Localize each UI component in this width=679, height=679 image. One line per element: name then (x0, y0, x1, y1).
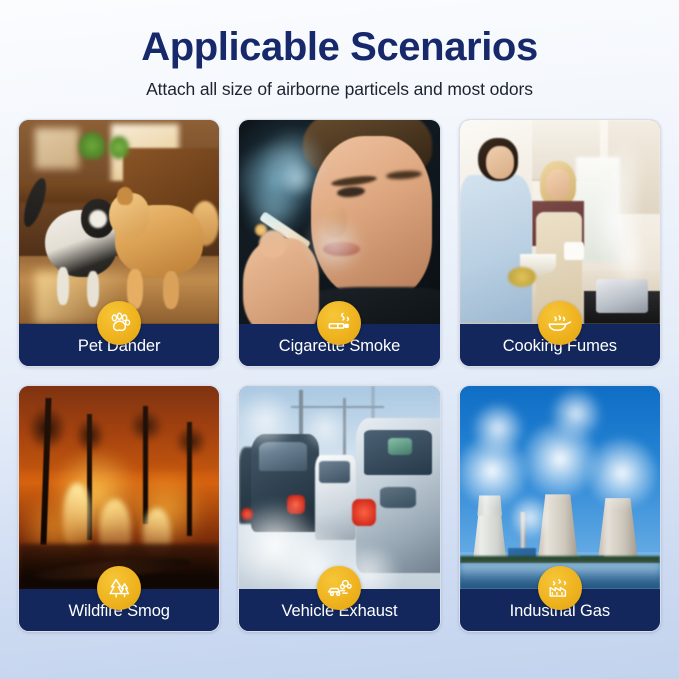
scenario-label-bar: Cooking Fumes (460, 324, 660, 366)
header: Applicable Scenarios Attach all size of … (18, 0, 661, 100)
scenario-card-industrial-gas[interactable]: Industrial Gas (459, 385, 661, 633)
car-exhaust-icon (317, 566, 361, 610)
scenario-card-cigarette-smoke[interactable]: Cigarette Smoke (238, 119, 440, 367)
scenario-label-bar: Industrial Gas (460, 589, 660, 631)
scenario-photo-forest-fire (19, 386, 219, 590)
scenario-label-bar: Wildfire Smog (19, 589, 219, 631)
cigarette-icon (317, 301, 361, 345)
scenario-card-pet-dander[interactable]: Pet Dander (18, 119, 220, 367)
scenario-card-wildfire-smog[interactable]: Wildfire Smog (18, 385, 220, 633)
scenario-card-cooking-fumes[interactable]: Cooking Fumes (459, 119, 661, 367)
scenario-label-bar: Vehicle Exhaust (239, 589, 439, 631)
scenario-label-bar: Pet Dander (19, 324, 219, 366)
scenario-card-vehicle-exhaust[interactable]: Vehicle Exhaust (238, 385, 440, 633)
scenario-photo-traffic-jam (239, 386, 439, 590)
scenario-photo-kitchen-couple (460, 120, 660, 324)
scenario-label-bar: Cigarette Smoke (239, 324, 439, 366)
scenario-photo-cat-and-dog (19, 120, 219, 324)
applicable-scenarios-infographic: Applicable Scenarios Attach all size of … (0, 0, 679, 679)
factory-icon (538, 566, 582, 610)
page-subtitle: Attach all size of airborne particels an… (18, 79, 661, 100)
paw-icon (97, 301, 141, 345)
scenario-grid: Pet Dander (18, 119, 661, 632)
cooking-pan-icon (538, 301, 582, 345)
page-title: Applicable Scenarios (18, 26, 661, 68)
burning-trees-icon (97, 566, 141, 610)
scenario-photo-cooling-towers (460, 386, 660, 590)
scenario-photo-man-smoking (239, 120, 439, 324)
